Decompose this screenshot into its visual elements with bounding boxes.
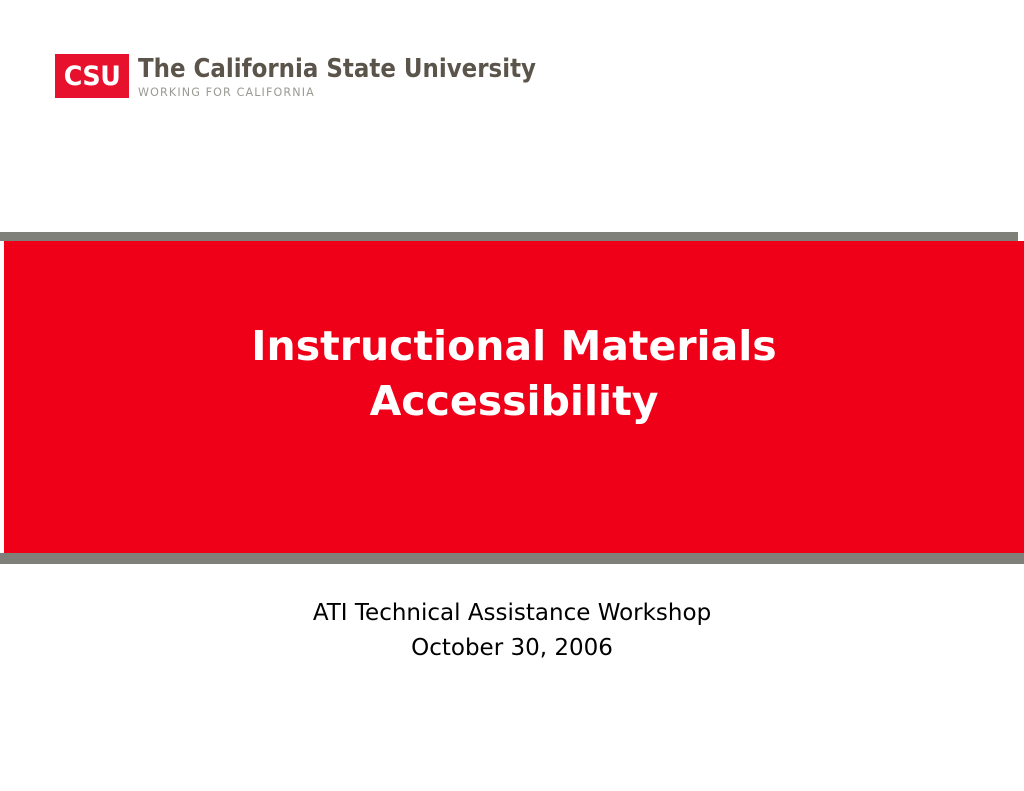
csu-logo-wordmark: The California State University WORKING … bbox=[138, 54, 580, 100]
csu-logo-mark-text: CSU bbox=[64, 63, 121, 90]
csu-tagline: WORKING FOR CALIFORNIA bbox=[138, 85, 567, 100]
subtitle-date: October 30, 2006 bbox=[0, 631, 1024, 666]
csu-logo-mark: CSU bbox=[55, 54, 129, 98]
banner-bottom-rule bbox=[0, 553, 1024, 564]
subtitle-event-name: ATI Technical Assistance Workshop bbox=[0, 596, 1024, 631]
title-banner: Instructional Materials Accessibility bbox=[0, 232, 1024, 564]
slide-title: Instructional Materials Accessibility bbox=[4, 319, 1024, 429]
csu-logo: CSU The California State University WORK… bbox=[55, 54, 580, 100]
slide-subtitle: ATI Technical Assistance Workshop Octobe… bbox=[0, 596, 1024, 666]
banner-red-fill: Instructional Materials Accessibility bbox=[4, 241, 1024, 553]
presentation-slide: CSU The California State University WORK… bbox=[0, 0, 1024, 791]
banner-top-rule bbox=[0, 232, 1018, 241]
csu-organization-name: The California State University bbox=[138, 55, 536, 83]
